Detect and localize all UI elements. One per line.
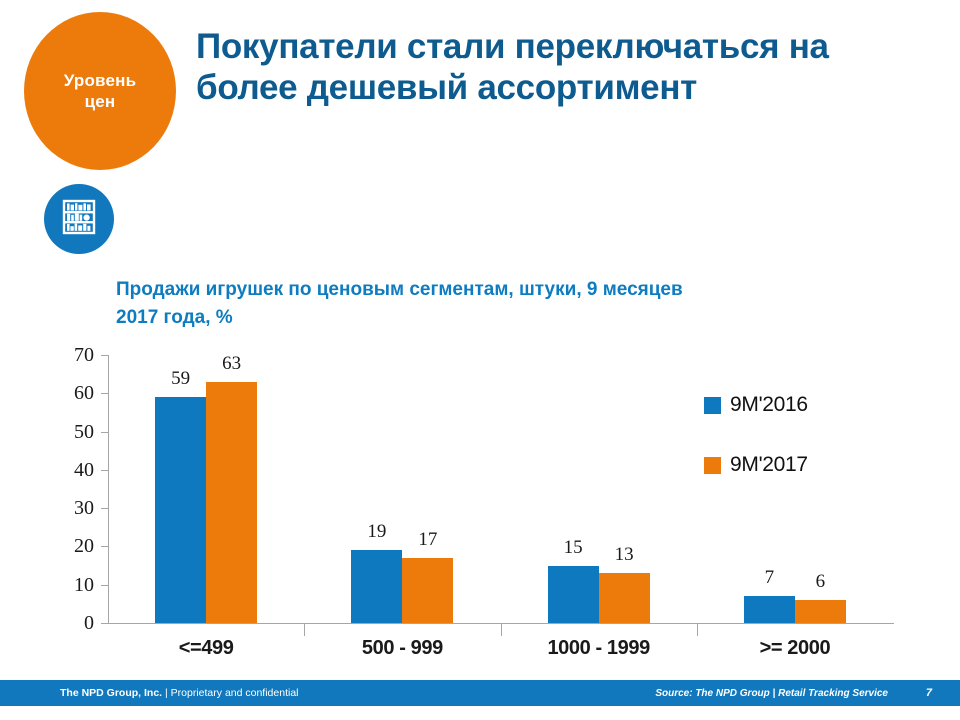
y-tick-label-wrap: 10 — [36, 585, 94, 586]
x-axis-separator — [304, 624, 305, 636]
y-tick — [101, 432, 108, 433]
bar-9M2016-3[interactable] — [744, 596, 795, 623]
legend-label: 9M'2017 — [730, 453, 808, 477]
y-tick-label: 40 — [42, 460, 94, 480]
bar-9M2017-1[interactable] — [402, 558, 453, 623]
legend-swatch — [704, 457, 721, 474]
legend-swatch — [704, 397, 721, 414]
x-axis-separator — [501, 624, 502, 636]
y-tick — [101, 355, 108, 356]
y-tick-label: 30 — [42, 498, 94, 518]
footer-confidential: Proprietary and confidential — [171, 687, 299, 699]
footer-bar: The NPD Group, Inc. | Proprietary and co… — [0, 680, 960, 706]
y-tick — [101, 623, 108, 624]
slide-canvas: Уровеньцен — [0, 0, 960, 720]
category-label-2: 1000 - 1999 — [501, 638, 697, 658]
chart-title: Продажи игрушек по ценовым сегментам, шт… — [116, 276, 726, 331]
footer-separator: | — [165, 687, 168, 699]
category-label-3: >= 2000 — [697, 638, 893, 658]
y-tick-label-wrap: 0 — [36, 623, 94, 624]
bar-value-label: 6 — [781, 572, 860, 591]
chart-legend: 9M'20169M'2017 — [704, 390, 808, 510]
y-tick — [101, 585, 108, 586]
bar-9M2016-2[interactable] — [548, 566, 599, 623]
bar-value-label: 17 — [388, 530, 467, 549]
bar-value-label: 63 — [192, 354, 271, 373]
y-tick-label: 70 — [42, 345, 94, 365]
footer-company-name: The NPD Group, Inc. — [60, 687, 162, 699]
y-tick-label: 20 — [42, 536, 94, 556]
y-axis-line — [108, 355, 109, 624]
category-label-1: 500 - 999 — [304, 638, 500, 658]
footer-source-text: Source: The NPD Group | Retail Tracking … — [655, 688, 888, 699]
footer-page-number: 7 — [926, 687, 932, 699]
y-tick-label-wrap: 20 — [36, 546, 94, 547]
legend-label: 9M'2016 — [730, 393, 808, 417]
bar-9M2016-1[interactable] — [351, 550, 402, 623]
legend-item-9M2016[interactable]: 9M'2016 — [704, 390, 808, 420]
category-label-0: <=499 — [108, 638, 304, 658]
bar-9M2016-0[interactable] — [155, 397, 206, 623]
footer-company-text: The NPD Group, Inc. | Proprietary and co… — [60, 687, 299, 699]
page-title: Покупатели стали переключаться на более … — [196, 26, 896, 109]
bar-9M2017-0[interactable] — [206, 382, 257, 623]
y-tick-label: 60 — [42, 383, 94, 403]
y-tick-label: 0 — [42, 613, 94, 633]
y-tick-label-wrap: 60 — [36, 393, 94, 394]
y-tick-label-wrap: 30 — [36, 508, 94, 509]
legend-item-9M2017[interactable]: 9M'2017 — [704, 450, 808, 480]
bar-9M2017-3[interactable] — [795, 600, 846, 623]
shelf-icon-badge — [44, 184, 114, 254]
x-axis-separator — [697, 624, 698, 636]
y-tick — [101, 508, 108, 509]
y-tick-label-wrap: 50 — [36, 432, 94, 433]
y-tick — [101, 470, 108, 471]
bar-chart: 010203040506070 59631917151376 <=499500 … — [0, 340, 960, 670]
y-tick-label-wrap: 40 — [36, 470, 94, 471]
y-tick — [101, 546, 108, 547]
price-level-badge-label: Уровеньцен — [64, 70, 137, 113]
y-tick-label: 50 — [42, 422, 94, 442]
bar-value-label: 13 — [585, 545, 664, 564]
shelf-icon — [59, 197, 99, 242]
y-tick — [101, 393, 108, 394]
y-tick-label: 10 — [42, 575, 94, 595]
price-level-badge: Уровеньцен — [24, 12, 176, 170]
bar-9M2017-2[interactable] — [599, 573, 650, 623]
y-tick-label-wrap: 70 — [36, 355, 94, 356]
